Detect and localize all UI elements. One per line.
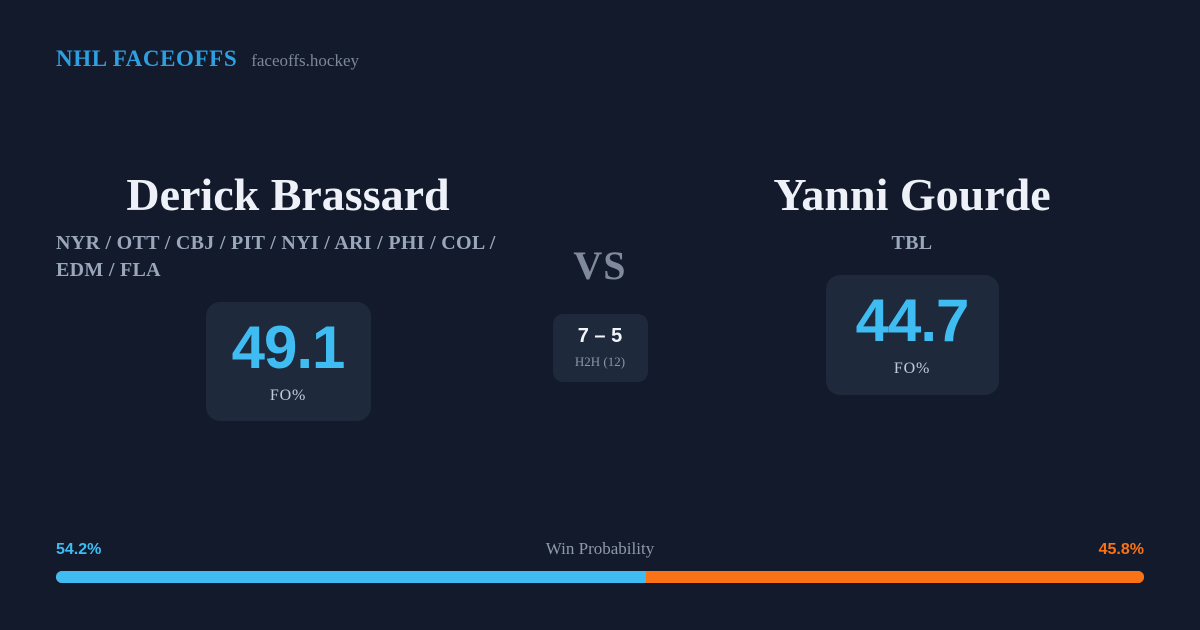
player-left-teams: NYR / OTT / CBJ / PIT / NYI / ARI / PHI …: [56, 230, 520, 284]
player-right-teams: TBL: [680, 230, 1144, 257]
win-probability-bar-left-fill: [56, 571, 646, 583]
win-probability-labels: 54.2% Win Probability 45.8%: [56, 540, 1144, 560]
player-left-name: Derick Brassard: [56, 170, 520, 220]
player-right-faceoff-card: 44.7 FO%: [826, 275, 999, 395]
player-left-faceoff-card: 49.1 FO%: [206, 302, 371, 421]
matchup-section: Derick Brassard NYR / OTT / CBJ / PIT / …: [0, 170, 1200, 421]
player-left-faceoff-label: FO%: [270, 387, 306, 405]
player-right: Yanni Gourde TBL 44.7 FO%: [680, 170, 1200, 395]
brand-domain: faceoffs.hockey: [251, 51, 359, 71]
win-probability-title: Win Probability: [546, 540, 654, 557]
versus-label: VS: [573, 246, 626, 286]
win-probability-left-value: 54.2%: [56, 542, 101, 558]
player-left: Derick Brassard NYR / OTT / CBJ / PIT / …: [0, 170, 520, 421]
player-left-faceoff-value: 49.1: [232, 318, 345, 378]
site-header: NHL FACEOFFS faceoffs.hockey: [56, 46, 359, 72]
player-right-faceoff-label: FO%: [894, 360, 930, 378]
win-probability-bar: [56, 571, 1144, 583]
player-right-faceoff-value: 44.7: [856, 291, 969, 351]
win-probability-bar-right-fill: [646, 571, 1144, 583]
versus-column: VS 7 – 5 H2H (12): [520, 170, 680, 382]
brand-title: NHL FACEOFFS: [56, 46, 237, 72]
head-to-head-card: 7 – 5 H2H (12): [553, 314, 648, 382]
head-to-head-label: H2H (12): [575, 354, 625, 370]
head-to-head-score: 7 – 5: [578, 326, 622, 346]
win-probability-right-value: 45.8%: [1099, 542, 1144, 558]
win-probability-section: 54.2% Win Probability 45.8%: [56, 540, 1144, 583]
player-right-name: Yanni Gourde: [680, 170, 1144, 220]
